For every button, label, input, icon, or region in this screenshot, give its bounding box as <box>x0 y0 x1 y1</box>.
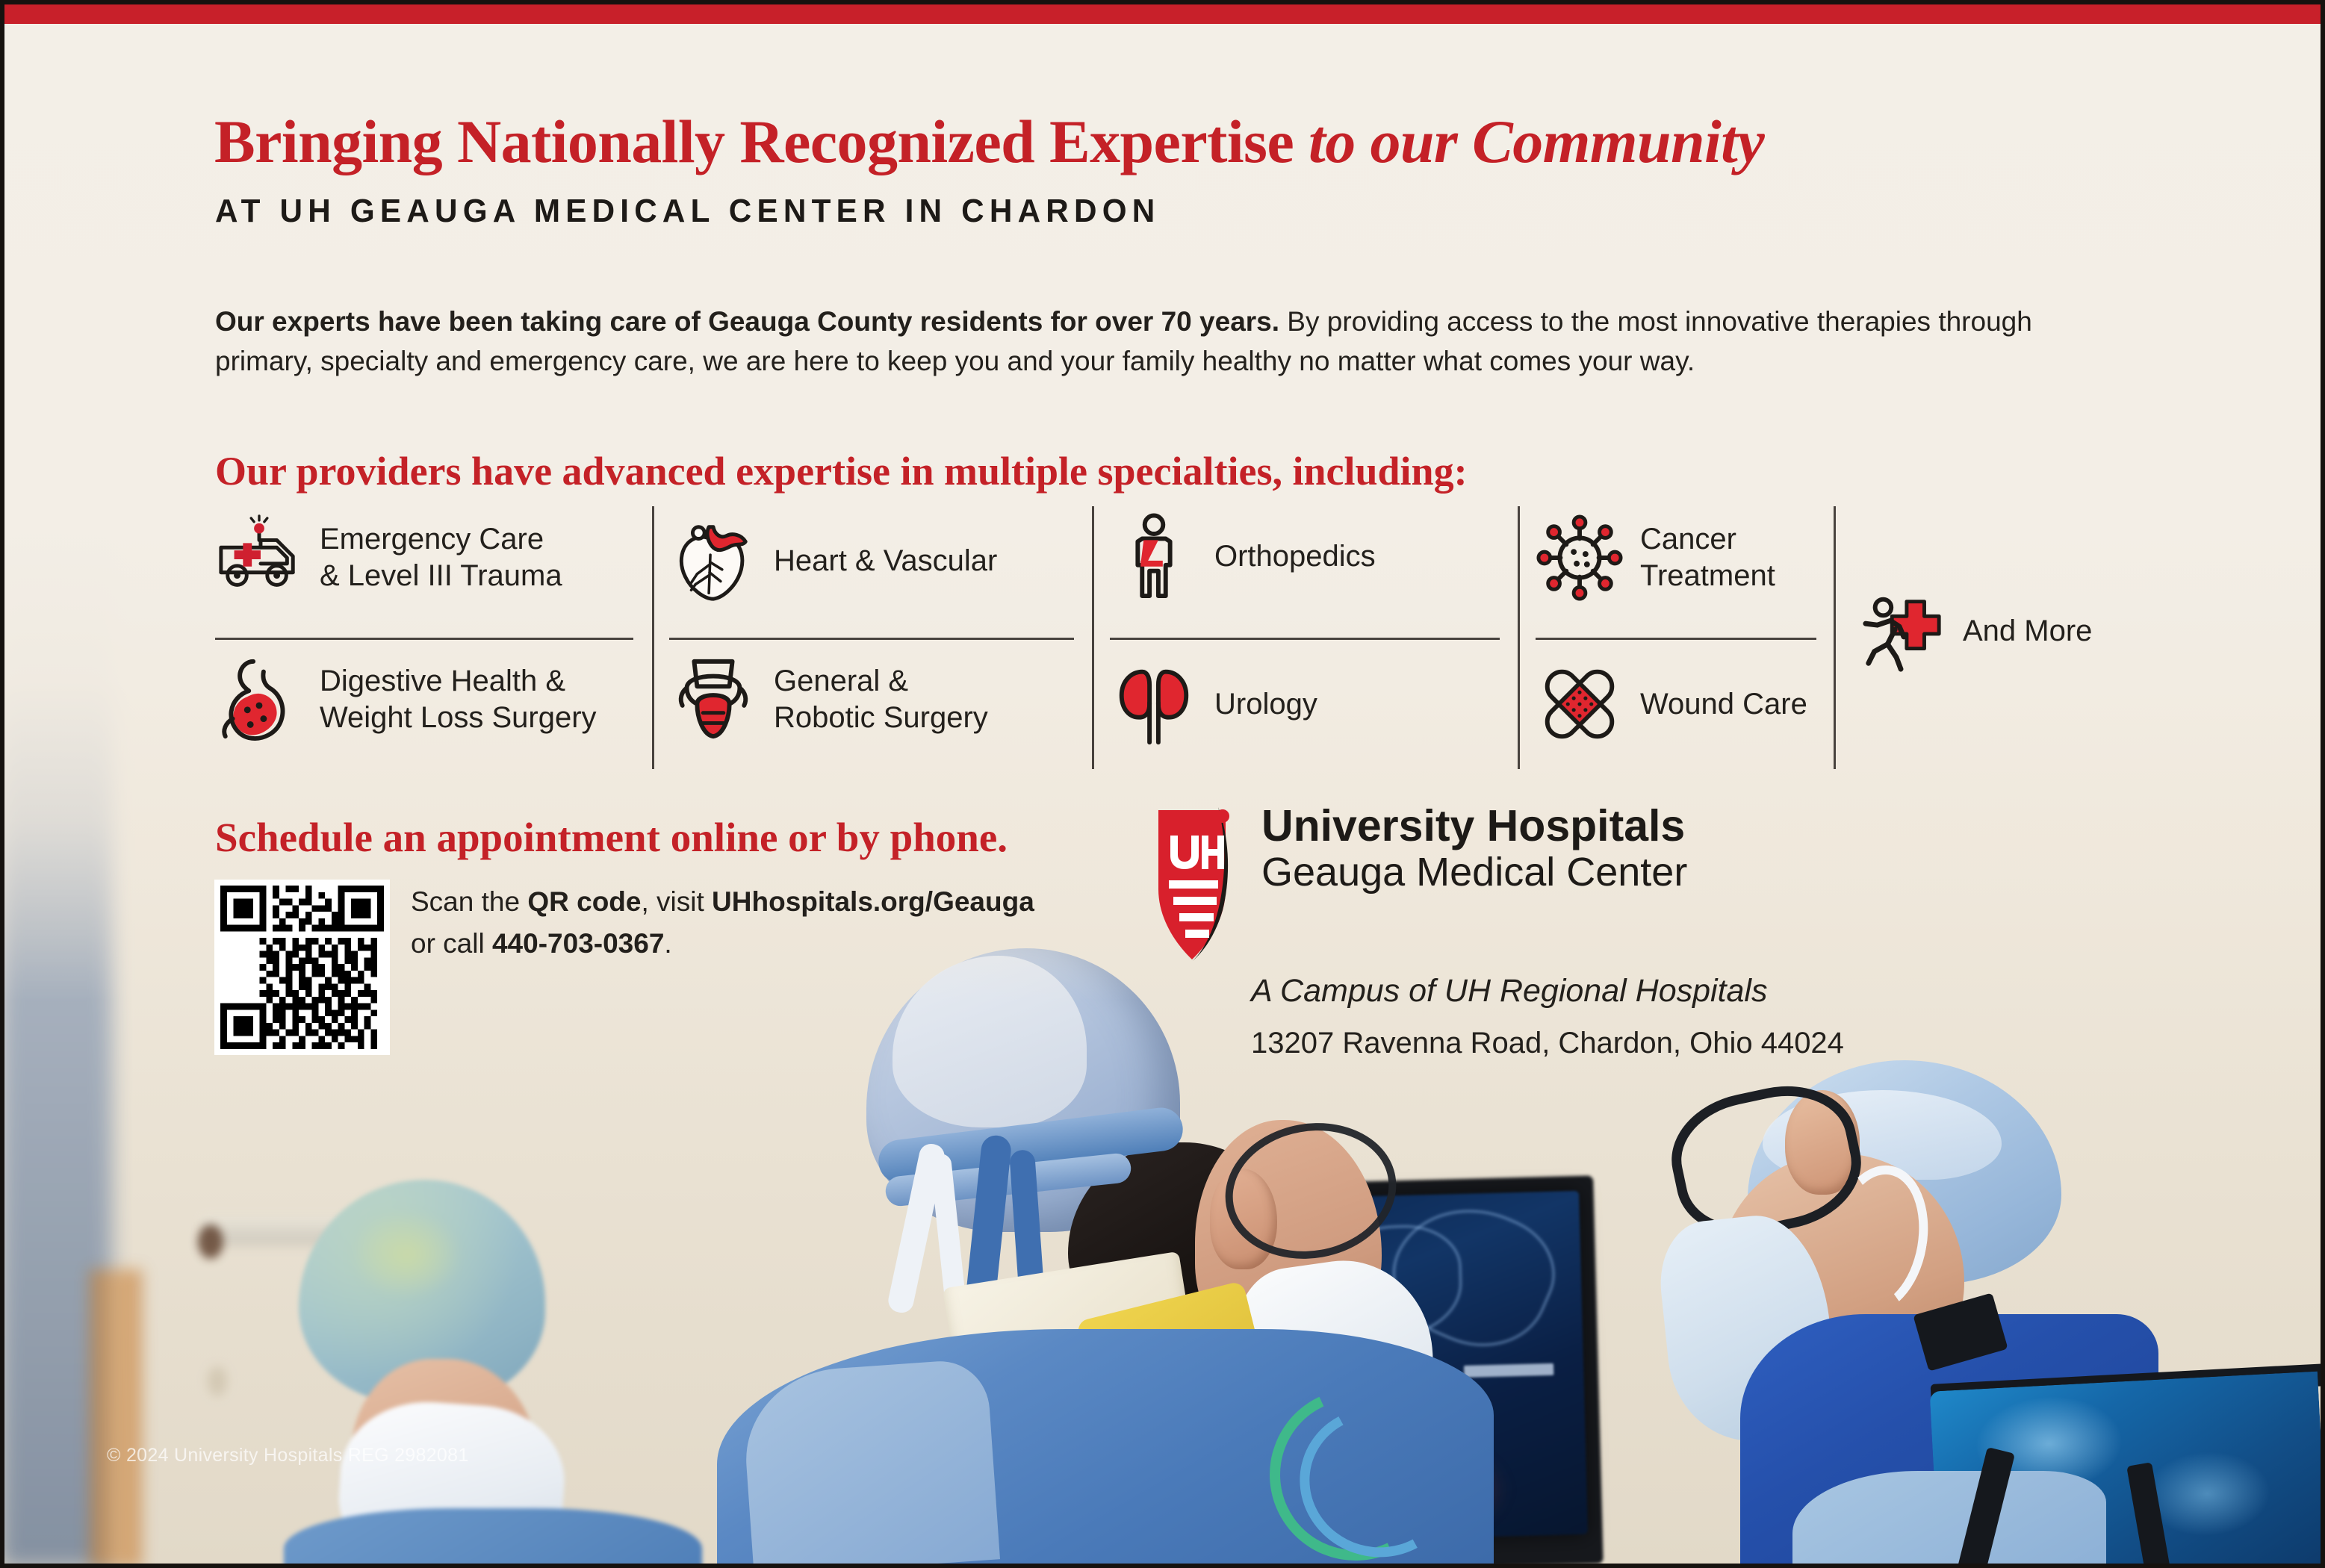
specialty-orthopedics[interactable]: Orthopedics <box>1110 512 1376 600</box>
cta-website-url[interactable]: UHhospitals.org/Geauga <box>712 886 1034 917</box>
logo-address: 13207 Ravenna Road, Chardon, Ohio 44024 <box>1251 1027 1844 1060</box>
grid-divider-vertical-3 <box>1518 506 1520 769</box>
specialty-wound-care[interactable]: Wound Care <box>1536 660 1807 748</box>
qr-code-svg <box>220 886 384 1049</box>
page-subheadline: AT UH GEAUGA MEDICAL CENTER IN CHARDON <box>215 193 1160 230</box>
specialty-label: Emergency Care & Level III Trauma <box>320 521 562 594</box>
specialty-label: And More <box>1963 613 2092 650</box>
logo-tagline: A Campus of UH Regional Hospitals <box>1251 973 1768 1009</box>
specialties-grid: Emergency Care & Level III Trauma <box>215 506 2127 775</box>
advertisement-page: Bringing Nationally Recognized Expertise… <box>0 0 2325 1568</box>
running-person-cross-icon <box>1858 587 1946 675</box>
logo-block: University Hospitals Geauga Medical Cent… <box>1154 803 1975 964</box>
specialty-and-more[interactable]: And More <box>1858 587 2092 675</box>
kidneys-icon <box>1110 660 1198 748</box>
grid-divider-horizontal-2 <box>669 638 1074 640</box>
orthopedics-person-icon <box>1110 512 1198 600</box>
logo-facility-name: Geauga Medical Center <box>1261 850 1687 895</box>
specialty-digestive-health[interactable]: Digestive Health & Weight Loss Surgery <box>215 656 597 744</box>
grid-divider-horizontal-1 <box>215 638 633 640</box>
heart-icon <box>669 517 757 605</box>
cta-call-pre: or call <box>411 928 492 959</box>
specialty-label: Urology <box>1214 686 1317 723</box>
headline-main-text: Bringing Nationally Recognized Expertise <box>214 108 1309 175</box>
grid-divider-horizontal-4 <box>1536 638 1816 640</box>
cta-instructions: Scan the QR code, visit UHhospitals.org/… <box>411 881 1202 965</box>
ambulance-icon <box>215 514 303 602</box>
headline-italic-text: to our Community <box>1309 108 1764 175</box>
specialty-heart-vascular[interactable]: Heart & Vascular <box>669 517 997 605</box>
specialty-label: Orthopedics <box>1214 538 1376 575</box>
top-red-bar <box>4 4 2321 24</box>
cta-visit-mid: , visit <box>641 886 712 917</box>
specialty-label: Digestive Health & Weight Loss Surgery <box>320 663 597 736</box>
specialty-urology[interactable]: Urology <box>1110 660 1317 748</box>
grid-divider-vertical-4 <box>1834 506 1836 769</box>
grid-divider-vertical-1 <box>652 506 654 769</box>
stomach-icon <box>215 656 303 744</box>
cta-period: . <box>664 928 671 959</box>
bandage-icon <box>1536 660 1624 748</box>
intro-paragraph: Our experts have been taking care of Gea… <box>215 302 2105 381</box>
page-headline: Bringing Nationally Recognized Expertise… <box>214 107 2231 177</box>
qr-code-icon[interactable] <box>214 880 390 1055</box>
specialty-label: General & Robotic Surgery <box>774 663 988 736</box>
specialties-heading: Our providers have advanced expertise in… <box>215 448 1468 494</box>
content-layer: Bringing Nationally Recognized Expertise… <box>0 0 2325 1568</box>
cancer-cell-icon <box>1536 514 1624 602</box>
cta-scan-pre: Scan the <box>411 886 527 917</box>
cta-heading: Schedule an appointment online or by pho… <box>215 814 1008 861</box>
uh-shield-logo-icon <box>1154 806 1242 964</box>
grid-divider-vertical-2 <box>1092 506 1094 769</box>
copyright-notice: © 2024 University Hospitals REG 2982081 <box>107 1445 469 1466</box>
cta-phone-number[interactable]: 440-703-0367 <box>492 928 664 959</box>
specialty-emergency-care[interactable]: Emergency Care & Level III Trauma <box>215 514 562 602</box>
logo-organization-name: University Hospitals <box>1261 801 1685 850</box>
specialty-cancer-treatment[interactable]: Cancer Treatment <box>1536 514 1775 602</box>
specialty-general-robotic-surgery[interactable]: General & Robotic Surgery <box>669 656 988 744</box>
specialty-label: Wound Care <box>1640 686 1807 723</box>
intro-lead-sentence: Our experts have been taking care of Gea… <box>215 306 1279 337</box>
specialty-label: Heart & Vascular <box>774 543 997 579</box>
specialty-label: Cancer Treatment <box>1640 521 1775 594</box>
surgical-mask-icon <box>669 656 757 744</box>
grid-divider-horizontal-3 <box>1110 638 1500 640</box>
cta-qr-label: QR code <box>527 886 641 917</box>
